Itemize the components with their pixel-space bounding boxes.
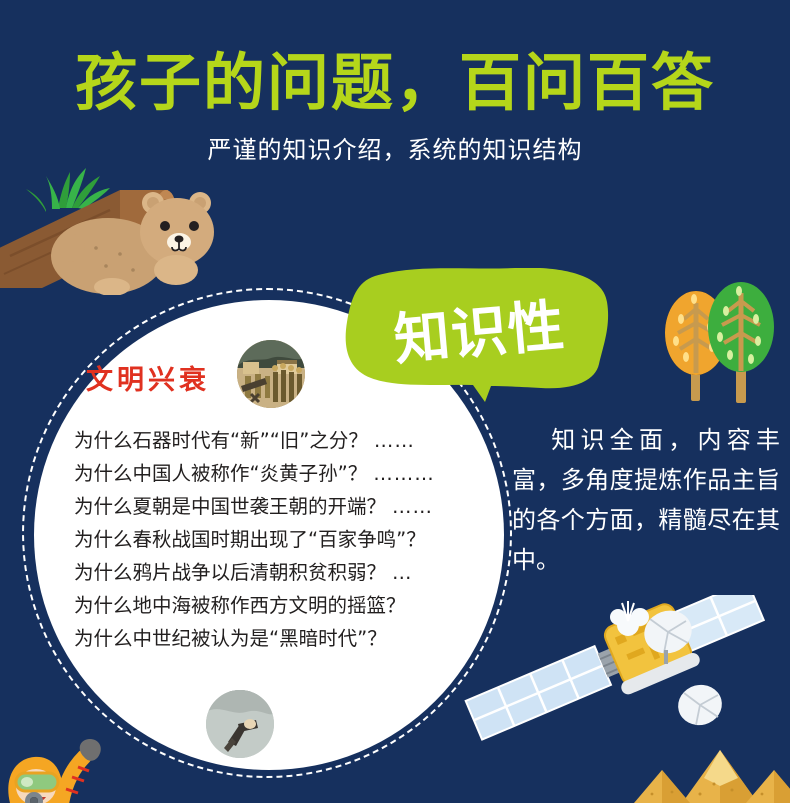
log-icon	[0, 190, 176, 288]
bear-icon	[51, 192, 214, 295]
question-text: 为什么地中海被称作西方文明的摇篮？	[74, 594, 406, 617]
dot-leader: ……	[386, 495, 433, 518]
question-text: 为什么鸦片战争以后清朝积贫积弱？	[74, 561, 386, 584]
header: 孩子的问题，百问百答 严谨的知识介绍，系统的知识结构	[0, 0, 790, 190]
question-text: 为什么石器时代有“新”“旧”之分？	[74, 429, 368, 452]
trees-illustration	[650, 275, 790, 405]
pyramids-illustration	[620, 748, 790, 803]
dot-leader	[426, 528, 432, 551]
page-title: 孩子的问题，百问百答	[0, 0, 790, 114]
question-item: 为什么夏朝是中国世袭王朝的开端？……	[74, 490, 494, 523]
satellite-dish-icon	[638, 604, 697, 664]
description-paragraph: 知识全面，内容丰富，多角度提炼作品主旨的各个方面，精髓尽在其中。	[512, 420, 780, 580]
pyramid-icon-3	[746, 770, 790, 803]
question-list: 为什么石器时代有“新”“旧”之分？…… 为什么中国人被称作“炎黄子孙”？……… …	[74, 424, 494, 655]
autumn-tree-icon	[665, 291, 727, 401]
civilization-photo	[237, 340, 305, 408]
question-item: 为什么地中海被称作西方文明的摇篮？	[74, 589, 494, 622]
question-item: 为什么春秋战国时期出现了“百家争鸣”？	[74, 523, 494, 556]
question-item: 为什么石器时代有“新”“旧”之分？……	[74, 424, 494, 457]
question-item: 为什么中世纪被认为是“黑暗时代”？	[74, 622, 494, 655]
green-tree-icon	[708, 282, 774, 403]
pyramid-icon	[682, 750, 758, 803]
dot-leader: ………	[367, 462, 435, 485]
dot-leader	[406, 594, 412, 617]
dot-leader: …	[386, 561, 413, 584]
antenna-icon	[610, 601, 649, 636]
medieval-photo	[206, 690, 274, 758]
knowledge-badge: 知识性	[345, 268, 613, 403]
question-text: 为什么中国人被称作“炎黄子孙”？	[74, 462, 367, 485]
question-item: 为什么中国人被称作“炎黄子孙”？………	[74, 457, 494, 490]
description-text: 知识全面，内容丰富，多角度提炼作品主旨的各个方面，精髓尽在其中。	[512, 426, 780, 574]
satellite-dish-icon-2	[674, 680, 727, 730]
question-text: 为什么夏朝是中国世袭王朝的开端？	[74, 495, 386, 518]
satellite-icon	[466, 595, 764, 740]
question-text: 为什么春秋战国时期出现了“百家争鸣”？	[74, 528, 426, 551]
dot-leader: ……	[368, 429, 415, 452]
poster-root: 孩子的问题，百问百答 严谨的知识介绍，系统的知识结构 文明兴衰	[0, 0, 790, 803]
page-subtitle: 严谨的知识介绍，系统的知识结构	[0, 114, 790, 165]
question-item: 为什么鸦片战争以后清朝积贫积弱？…	[74, 556, 494, 589]
question-text: 为什么中世纪被认为是“黑暗时代”？	[74, 627, 387, 650]
pyramid-icon-2	[634, 770, 690, 803]
section-title: 文明兴衰	[86, 358, 210, 397]
badge-label: 知识性	[340, 257, 617, 400]
dot-leader	[387, 627, 393, 650]
